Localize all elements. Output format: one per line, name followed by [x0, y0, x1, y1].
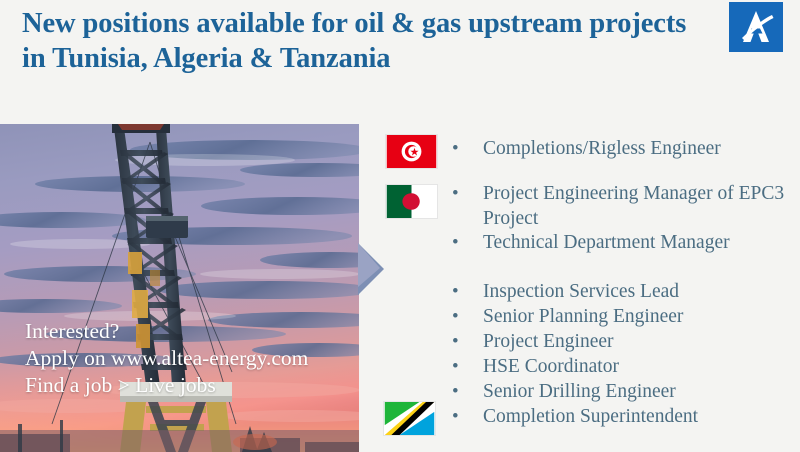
job-title: Inspection Services Lead	[483, 280, 797, 305]
job-title: Technical Department Manager	[483, 231, 797, 256]
list-item[interactable]: • Technical Department Manager	[452, 231, 797, 256]
page-title: New positions available for oil & gas up…	[22, 6, 702, 76]
list-item[interactable]: • Senior Drilling Engineer	[452, 380, 797, 405]
bullet-icon: •	[452, 380, 483, 405]
hero-photo-panel: Interested? Apply on www.altea-energy.co…	[0, 124, 359, 452]
photo-caption: Interested? Apply on www.altea-energy.co…	[25, 318, 308, 399]
list-item[interactable]: • Inspection Services Lead	[452, 280, 797, 305]
list-item[interactable]: • Completion Superintendent	[452, 405, 797, 430]
list-item[interactable]: • Completions/Rigless Engineer	[452, 137, 797, 162]
flag-algeria-icon	[385, 184, 438, 219]
job-title: Project Engineering Manager of EPC3 Proj…	[483, 182, 797, 231]
job-title: Completion Superintendent	[483, 405, 797, 430]
bullet-icon: •	[452, 330, 483, 355]
flag-tunisia-icon	[385, 134, 438, 169]
job-title: Project Engineer	[483, 330, 797, 355]
job-title: Senior Planning Engineer	[483, 305, 797, 330]
job-list-panel: • Completions/Rigless Engineer • Project…	[380, 124, 800, 452]
list-item[interactable]: • Project Engineer	[452, 330, 797, 355]
caption-line-findajob[interactable]: Find a job > Live jobs	[25, 372, 308, 399]
job-title: HSE Coordinator	[483, 355, 797, 380]
bullet-icon: •	[452, 182, 483, 207]
drilling-rig-illustration-icon	[0, 124, 359, 452]
job-title: Completions/Rigless Engineer	[483, 137, 797, 162]
bullet-icon: •	[452, 231, 483, 256]
bullet-icon: •	[452, 280, 483, 305]
altea-logo-mark-icon	[729, 2, 783, 52]
bullet-icon: •	[452, 305, 483, 330]
list-item[interactable]: • HSE Coordinator	[452, 355, 797, 380]
caption-line-interested: Interested?	[25, 318, 308, 345]
altea-logo[interactable]	[729, 2, 783, 52]
bullet-icon: •	[452, 355, 483, 380]
flag-tanzania-icon	[383, 401, 436, 436]
list-item[interactable]: • Senior Planning Engineer	[452, 305, 797, 330]
list-item[interactable]: • Project Engineering Manager of EPC3 Pr…	[452, 182, 797, 231]
job-title: Senior Drilling Engineer	[483, 380, 797, 405]
bullet-icon: •	[452, 405, 483, 430]
slide-canvas: New positions available for oil & gas up…	[0, 0, 800, 452]
caption-line-website[interactable]: Apply on www.altea-energy.com	[25, 345, 308, 372]
drilling-rig-photo	[0, 124, 359, 452]
bullet-icon: •	[452, 137, 483, 162]
